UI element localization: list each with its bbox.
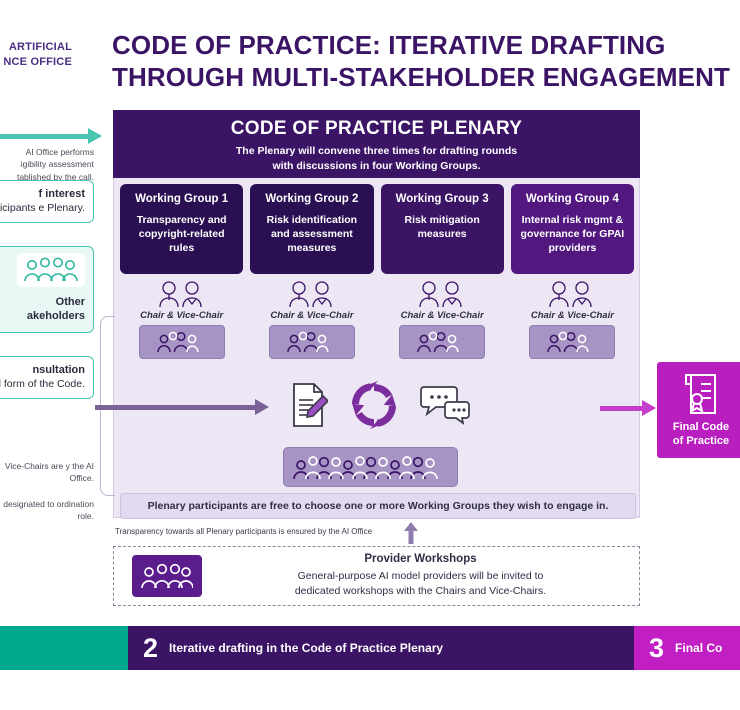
- ai-office-logo: ARTIFICIAL NCE OFFICE: [0, 40, 72, 70]
- logo-line-1: ARTIFICIAL: [0, 40, 72, 55]
- provider-workshops-box: Provider Workshops General-purpose AI mo…: [113, 546, 640, 606]
- chair-label-3: Chair & Vice-Chair: [401, 310, 484, 321]
- certificate-icon: [681, 372, 721, 416]
- left-box-consultation-body: ts from all hich will form of the Code.: [0, 377, 85, 392]
- chair-label-1: Chair & Vice-Chair: [140, 310, 223, 321]
- working-group-members-box-2: [269, 325, 355, 359]
- consultation-flow-arrow-icon: [95, 401, 273, 413]
- step-3-number: 3: [649, 635, 664, 662]
- left-box-stakeholders: Other akeholders: [0, 246, 94, 333]
- chair-vice-chair-icon: [284, 278, 340, 308]
- transparency-note: Transparency towards all Plenary partici…: [115, 527, 372, 536]
- step-segment-3[interactable]: 3 Final Co: [634, 626, 740, 670]
- working-group-2-title: Working Group 2: [256, 193, 367, 205]
- working-group-4-title: Working Group 4: [517, 193, 628, 205]
- chair-cell-3: Chair & Vice-Chair: [381, 278, 504, 374]
- title-line-2: THROUGH MULTI-STAKEHOLDER ENGAGEMENT: [112, 62, 732, 94]
- working-group-3[interactable]: Working Group 3 Risk mitigation measures: [381, 184, 504, 274]
- working-groups-row: Working Group 1 Transparency and copyrig…: [120, 184, 634, 274]
- transparency-up-arrow-icon: [404, 522, 418, 544]
- step-3-label: Final Co: [675, 641, 722, 655]
- working-group-3-title: Working Group 3: [387, 193, 498, 205]
- left-box-stakeholders-heading-1: Other: [0, 295, 85, 309]
- drafting-cycle-icons: [290, 378, 470, 432]
- plenary-subtitle-1: The Plenary will convene three times for…: [113, 144, 640, 159]
- left-note-bottom-2: designated to ordination role.: [0, 498, 94, 523]
- chairs-row: Chair & Vice-Chair: [120, 278, 634, 374]
- working-group-1-desc: Transparency and copyright-related rules: [126, 213, 237, 256]
- working-group-4[interactable]: Working Group 4 Internal risk mgmt & gov…: [511, 184, 634, 274]
- working-group-members-box-4: [529, 325, 615, 359]
- step-segment-2[interactable]: 2 Iterative drafting in the Code of Prac…: [128, 626, 658, 670]
- chair-label-4: Chair & Vice-Chair: [531, 310, 614, 321]
- provider-workshops-body-2: dedicated workshops with the Chairs and …: [212, 584, 629, 599]
- working-group-3-desc: Risk mitigation measures: [387, 213, 498, 241]
- people-group-icon: [17, 253, 85, 287]
- provider-workshops-heading: Provider Workshops: [212, 553, 629, 565]
- chair-vice-chair-icon: [414, 278, 470, 308]
- left-note-bottom-1: Vice-Chairs are y the AI Office.: [0, 460, 94, 485]
- left-box-consultation: nsultation ts from all hich will form of…: [0, 356, 94, 399]
- left-box-consultation-heading: nsultation: [0, 363, 85, 377]
- left-box-interest-body: ne participants e Plenary.: [0, 201, 85, 216]
- plenary-note: Plenary participants are free to choose …: [120, 493, 636, 519]
- chair-label-2: Chair & Vice-Chair: [270, 310, 353, 321]
- working-group-2-desc: Risk identification and assessment measu…: [256, 213, 367, 256]
- title-line-1: CODE OF PRACTICE: ITERATIVE DRAFTING: [112, 30, 732, 62]
- chair-cell-1: Chair & Vice-Chair: [120, 278, 243, 374]
- left-note-top: AI Office performs igibility assessment …: [0, 146, 94, 183]
- document-pen-icon: [290, 382, 328, 428]
- cycle-arrows-icon: [348, 380, 400, 430]
- left-box-interest-heading: f interest: [0, 187, 85, 201]
- speech-bubbles-icon: [420, 384, 470, 426]
- working-group-4-desc: Internal risk mgmt & governance for GPAI…: [517, 213, 628, 256]
- working-group-members-box-1: [139, 325, 225, 359]
- plenary-header: CODE OF PRACTICE PLENARY The Plenary wil…: [113, 110, 640, 178]
- plenary-participants-icon: [283, 447, 458, 487]
- working-group-1[interactable]: Working Group 1 Transparency and copyrig…: [120, 184, 243, 274]
- final-code-label-2: of Practice: [673, 434, 729, 448]
- chair-cell-2: Chair & Vice-Chair: [250, 278, 373, 374]
- chair-vice-chair-icon: [154, 278, 210, 308]
- working-group-2[interactable]: Working Group 2 Risk identification and …: [250, 184, 373, 274]
- step-progress-bar: 2 Iterative drafting in the Code of Prac…: [0, 626, 740, 670]
- working-group-1-title: Working Group 1: [126, 193, 237, 205]
- working-group-members-box-3: [399, 325, 485, 359]
- step-2-label: Iterative drafting in the Code of Practi…: [169, 641, 443, 655]
- final-code-flow-arrow-icon: [600, 402, 658, 414]
- provider-workshops-text: Provider Workshops General-purpose AI mo…: [202, 553, 639, 599]
- final-code-of-practice-box[interactable]: Final Code of Practice: [657, 362, 740, 458]
- final-code-label-1: Final Code: [673, 420, 729, 434]
- chair-cell-4: Chair & Vice-Chair: [511, 278, 634, 374]
- left-box-interest: f interest ne participants e Plenary.: [0, 180, 94, 223]
- left-box-stakeholders-heading-2: akeholders: [0, 309, 85, 323]
- plenary-title: CODE OF PRACTICE PLENARY: [113, 118, 640, 140]
- page-title: CODE OF PRACTICE: ITERATIVE DRAFTING THR…: [112, 30, 732, 93]
- left-cropped-column: AI Office performs igibility assessment …: [0, 108, 100, 538]
- infographic-canvas: ARTIFICIAL NCE OFFICE CODE OF PRACTICE: …: [0, 0, 740, 710]
- provider-workshops-body-1: General-purpose AI model providers will …: [212, 569, 629, 584]
- teal-flow-arrow-icon: [0, 130, 110, 142]
- people-group-icon: [132, 555, 202, 597]
- plenary-subtitle-2: with discussions in four Working Groups.: [113, 159, 640, 174]
- chair-vice-chair-icon: [544, 278, 600, 308]
- step-2-number: 2: [143, 635, 158, 662]
- logo-line-2: NCE OFFICE: [0, 55, 72, 70]
